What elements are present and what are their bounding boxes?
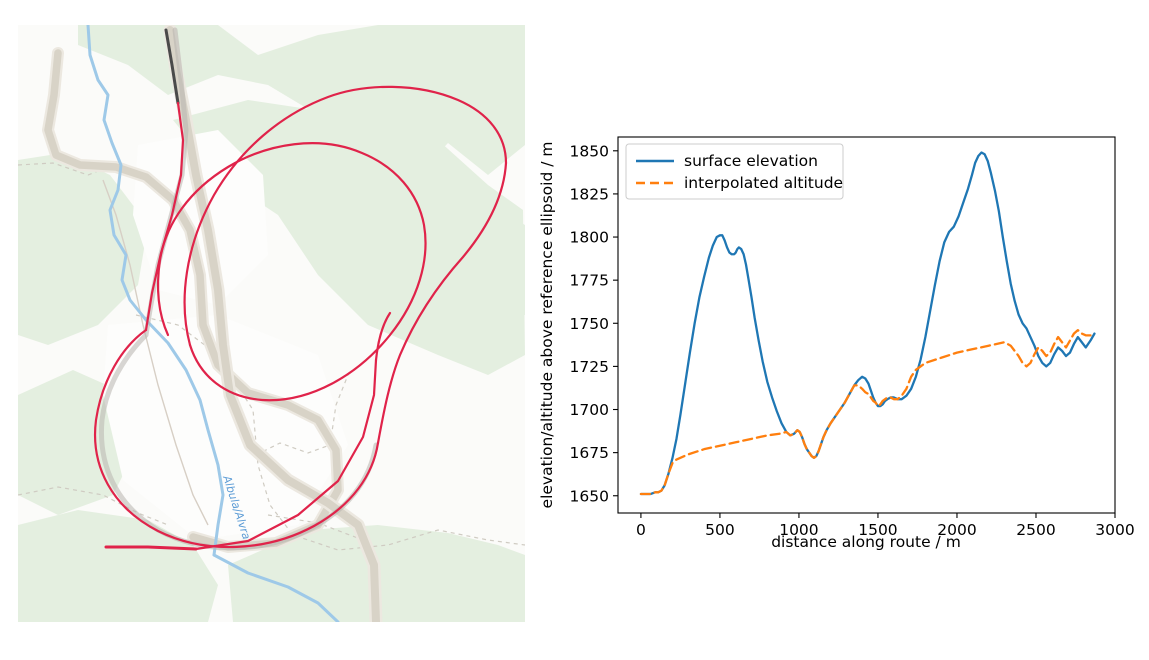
y-tick-label: 1775 <box>570 272 609 290</box>
x-tick-label: 2500 <box>1016 521 1055 539</box>
chart-canvas[interactable]: 050010001500200025003000 165016751700172… <box>530 110 1149 560</box>
x-tick-label: 0 <box>636 521 646 539</box>
elevation-profile-chart[interactable]: 050010001500200025003000 165016751700172… <box>530 110 1149 560</box>
chart-legend[interactable]: surface elevation interpolated altitude <box>626 144 843 199</box>
y-tick-label: 1675 <box>570 444 609 462</box>
y-tick-label: 1700 <box>570 401 609 419</box>
y-tick-label: 1825 <box>570 185 609 203</box>
x-tick-label: 3000 <box>1095 521 1134 539</box>
legend-label-interpolated-altitude: interpolated altitude <box>684 174 843 192</box>
map-canvas[interactable]: Albula/Alvra <box>18 25 525 622</box>
x-axis-title: distance along route / m <box>771 533 961 551</box>
map-panel[interactable]: Albula/Alvra <box>18 25 525 622</box>
y-tick-label: 1725 <box>570 358 609 376</box>
y-axis-title: elevation/altitude above reference ellip… <box>538 142 556 509</box>
y-tick-label: 1750 <box>570 315 609 333</box>
y-tick-label: 1650 <box>570 487 609 505</box>
legend-label-surface-elevation: surface elevation <box>684 152 818 170</box>
y-tick-label: 1800 <box>570 229 609 247</box>
y-tick-label: 1850 <box>570 142 609 160</box>
x-tick-label: 500 <box>705 521 735 539</box>
